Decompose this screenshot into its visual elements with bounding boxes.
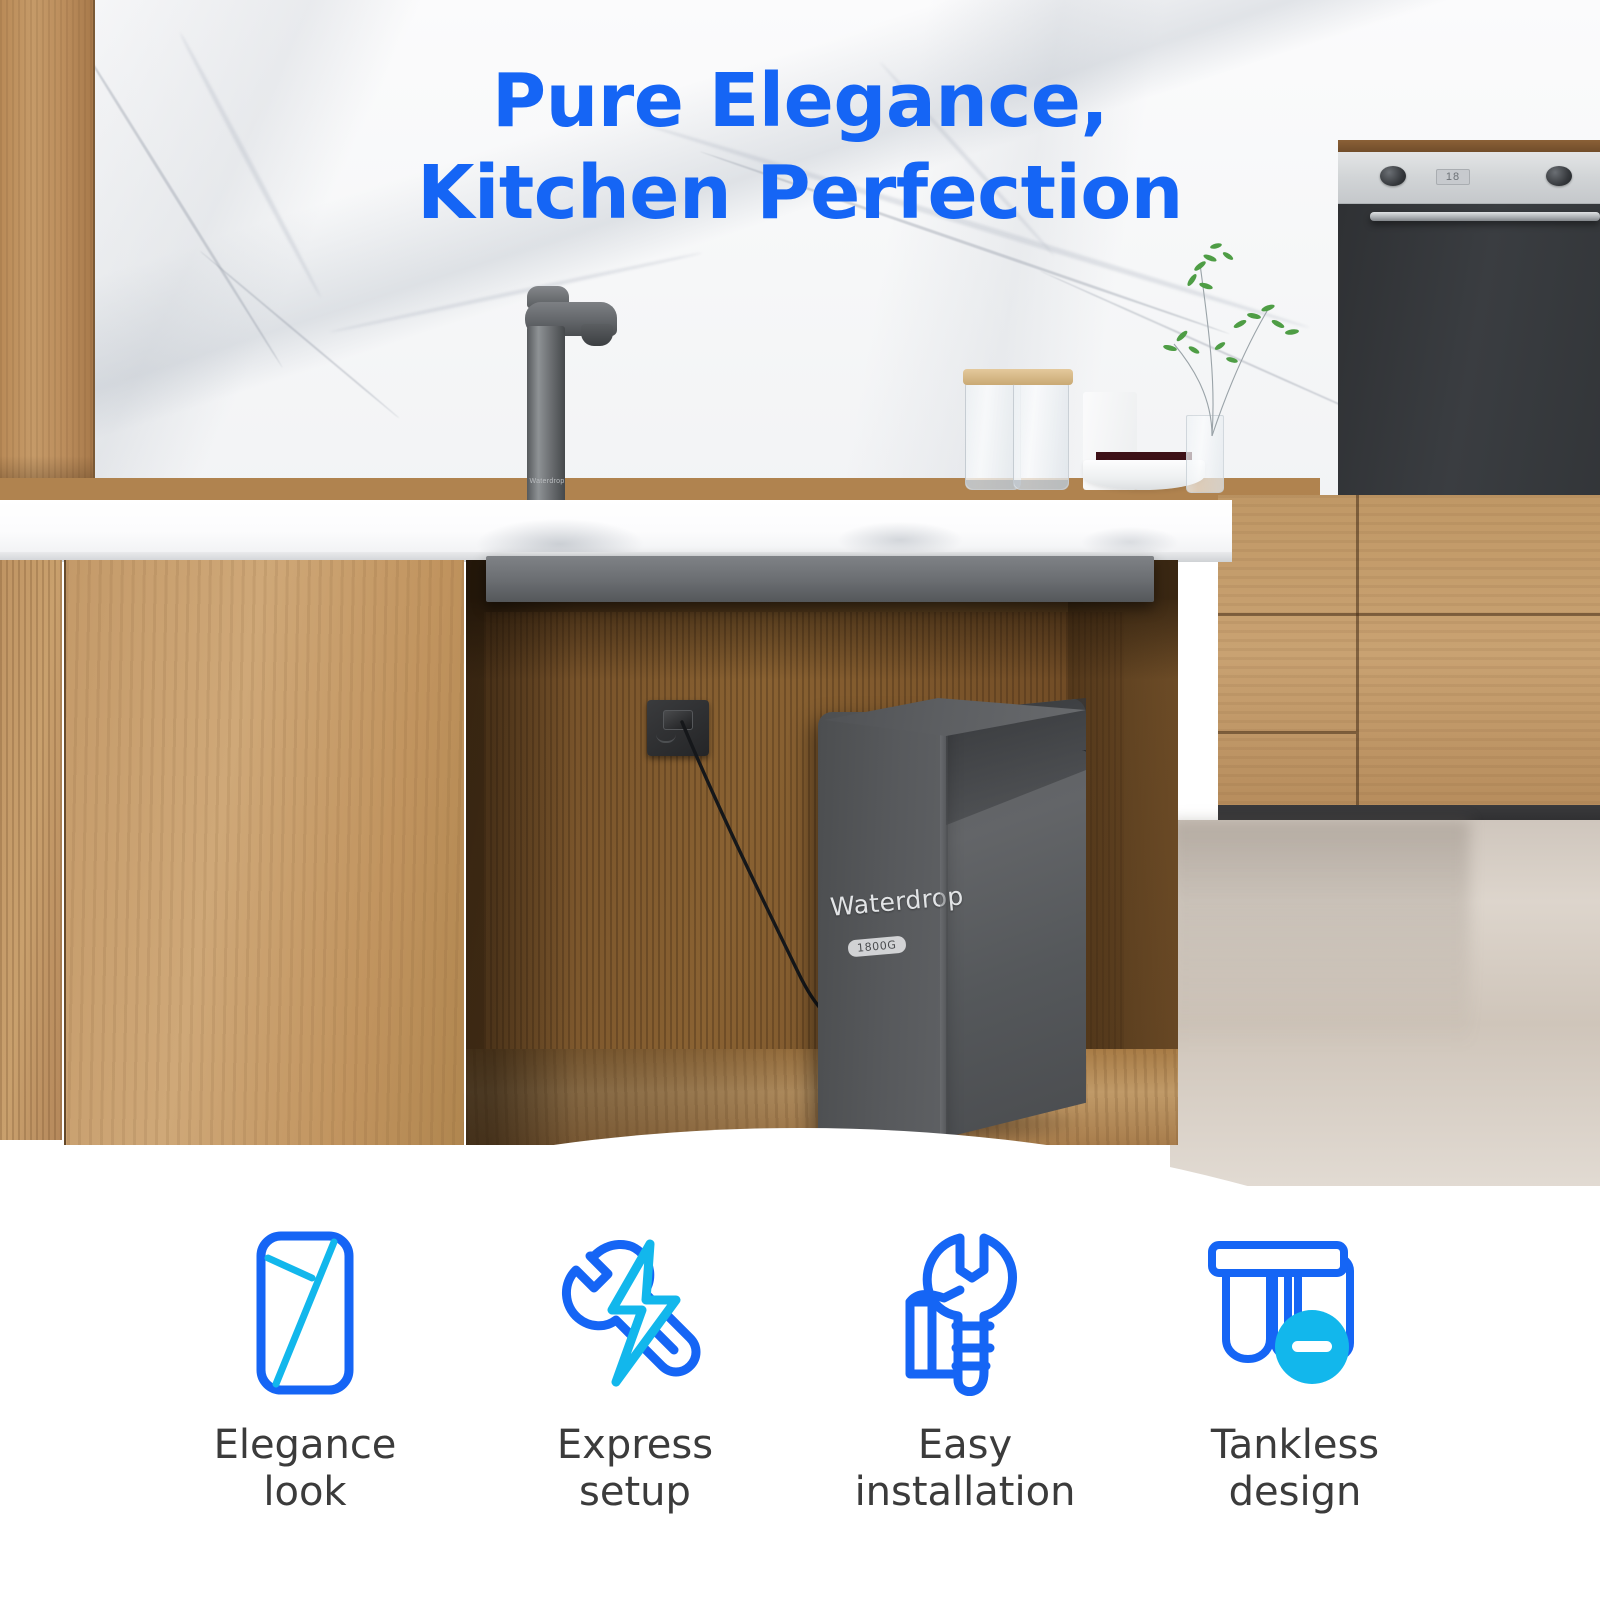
feature-label: Easy installation [855,1422,1076,1516]
unit-diagonal-crease [944,750,1086,1140]
elegance-unit-icon [242,1228,368,1398]
jar-base [966,480,1020,489]
feature-tankless-design: Tankless design [1130,1228,1460,1516]
cavity-top-rail [486,556,1154,602]
page-title: Pure Elegance, Kitchen Perfection [0,64,1600,230]
headline-line-2: Kitchen Perfection [0,156,1600,230]
wrench-bolt-icon [550,1228,720,1398]
power-outlet[interactable] [647,700,709,756]
floor-reflection [1170,820,1470,1190]
faucet-column [527,326,565,514]
waterdrop-filter-unit: Waterdrop 1800G [818,698,1086,1150]
island-side-panel [0,560,62,1140]
plant-branches-icon [1120,228,1320,438]
feature-label: Express setup [557,1422,713,1516]
feature-strip: Elegance look Express setup [0,1228,1600,1568]
faucet-nozzle [581,324,613,346]
unit-front-face: Waterdrop 1800G [818,712,946,1142]
feature-express-setup: Express setup [470,1228,800,1516]
tankless-filters-icon [1202,1228,1388,1398]
water-faucet[interactable]: Waterdrop [505,280,625,528]
jar-lid-icon [1011,369,1073,385]
headline-line-1: Pure Elegance, [492,58,1108,144]
jar-base [1014,480,1068,489]
promo-stage: 18 [0,0,1600,1600]
feature-elegance-look: Elegance look [140,1228,470,1516]
right-lower-cabinets [1218,495,1600,813]
hand-wrench-icon [886,1228,1044,1398]
feature-easy-installation: Easy installation [800,1228,1130,1516]
faucet-brand-mark: Waterdrop [527,478,567,485]
model-badge: 1800G [847,936,906,958]
feature-label: Elegance look [214,1422,397,1516]
power-plug-icon [663,710,693,730]
island-countertop [0,500,1232,558]
brand-logo: Waterdrop [829,883,943,922]
unit-edge-highlight [940,708,948,1144]
feature-label: Tankless design [1211,1422,1379,1516]
glass-jar-right [1013,382,1069,490]
outlet-slot [656,734,676,743]
island-cabinet-door[interactable] [64,560,464,1145]
